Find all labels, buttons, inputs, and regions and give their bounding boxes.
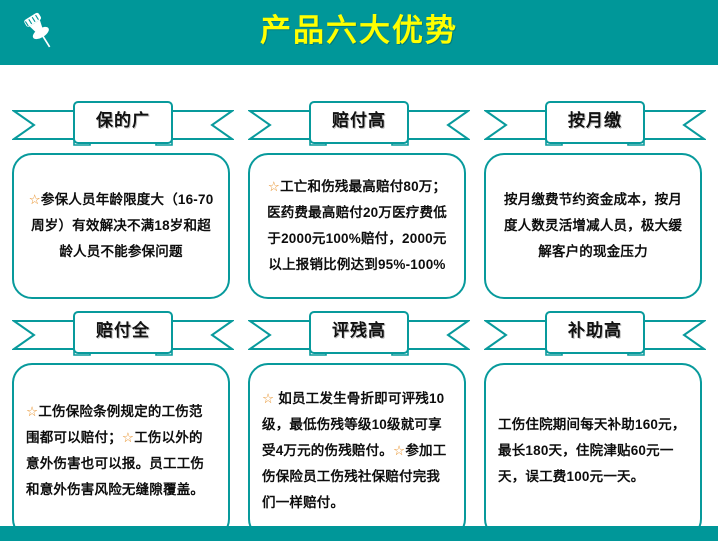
card-text-content: 参保人员年龄限度大（16-70周岁）有效解决不满18岁和超龄人员不能参保问题 xyxy=(31,192,213,259)
footer-bar xyxy=(0,526,718,541)
ribbon-banner-2: 赔付高 xyxy=(248,99,470,149)
ribbon-banner-4: 赔付全 xyxy=(12,309,234,359)
card-text-content: 工亡和伤残最高赔付80万；医药费最高赔付20万医疗费低于2000元100%赔付，… xyxy=(267,179,447,272)
card-body-2: ☆工亡和伤残最高赔付80万；医药费最高赔付20万医疗费低于2000元100%赔付… xyxy=(248,153,466,299)
card-banner-label: 赔付全 xyxy=(12,309,234,353)
advantage-card-3[interactable]: 按月缴 按月缴费节约资金成本，按月度人数灵活增减人员，极大缓解客户的现金压力 xyxy=(484,99,706,299)
star-icon: ☆ xyxy=(29,192,41,207)
card-text-content: 工伤住院期间每天补助160元，最长180天，住院津贴60元一天，误工费100元一… xyxy=(498,417,686,484)
advantage-card-6[interactable]: 补助高 工伤住院期间每天补助160元，最长180天，住院津贴60元一天，误工费1… xyxy=(484,309,706,539)
star-icon: ☆ xyxy=(268,179,280,194)
star-icon: ☆ xyxy=(26,404,38,419)
ribbon-banner-3: 按月缴 xyxy=(484,99,706,149)
card-text-1: ☆参保人员年龄限度大（16-70周岁）有效解决不满18岁和超龄人员不能参保问题 xyxy=(26,187,216,265)
card-body-1: ☆参保人员年龄限度大（16-70周岁）有效解决不满18岁和超龄人员不能参保问题 xyxy=(12,153,230,299)
card-text-4: ☆工伤保险条例规定的工伤范围都可以赔付；☆工伤以外的意外伤害也可以报。员工工伤和… xyxy=(26,399,216,503)
card-body-5: ☆ 如员工发生骨折即可评残10级，最低伤残等级10级就可享受4万元的伤残赔付。☆… xyxy=(248,363,466,539)
star-icon-secondary: ☆ xyxy=(393,443,405,458)
card-banner-label: 评残高 xyxy=(248,309,470,353)
page-title: 产品六大优势 xyxy=(0,0,718,65)
card-text-6: 工伤住院期间每天补助160元，最长180天，住院津贴60元一天，误工费100元一… xyxy=(498,412,688,490)
card-body-4: ☆工伤保险条例规定的工伤范围都可以赔付；☆工伤以外的意外伤害也可以报。员工工伤和… xyxy=(12,363,230,539)
card-text-2: ☆工亡和伤残最高赔付80万；医药费最高赔付20万医疗费低于2000元100%赔付… xyxy=(262,174,452,278)
ribbon-banner-6: 补助高 xyxy=(484,309,706,359)
star-icon: ☆ xyxy=(262,391,274,406)
card-text-5: ☆ 如员工发生骨折即可评残10级，最低伤残等级10级就可享受4万元的伤残赔付。☆… xyxy=(262,386,452,516)
star-icon-secondary: ☆ xyxy=(122,430,134,445)
advantage-card-2[interactable]: 赔付高 ☆工亡和伤残最高赔付80万；医药费最高赔付20万医疗费低于2000元10… xyxy=(248,99,470,299)
ribbon-banner-5: 评残高 xyxy=(248,309,470,359)
card-banner-label: 按月缴 xyxy=(484,99,706,143)
card-text-content: 按月缴费节约资金成本，按月度人数灵活增减人员，极大缓解客户的现金压力 xyxy=(504,192,682,259)
card-banner-label: 保的广 xyxy=(12,99,234,143)
advantage-card-4[interactable]: 赔付全 ☆工伤保险条例规定的工伤范围都可以赔付；☆工伤以外的意外伤害也可以报。员… xyxy=(12,309,234,539)
advantages-grid: 保的广 ☆参保人员年龄限度大（16-70周岁）有效解决不满18岁和超龄人员不能参… xyxy=(0,65,718,526)
card-banner-label: 赔付高 xyxy=(248,99,470,143)
card-text-3: 按月缴费节约资金成本，按月度人数灵活增减人员，极大缓解客户的现金压力 xyxy=(498,187,688,265)
advantage-card-5[interactable]: 评残高 ☆ 如员工发生骨折即可评残10级，最低伤残等级10级就可享受4万元的伤残… xyxy=(248,309,470,539)
card-body-6: 工伤住院期间每天补助160元，最长180天，住院津贴60元一天，误工费100元一… xyxy=(484,363,702,539)
page-header: 产品六大优势 xyxy=(0,0,718,65)
advantage-card-1[interactable]: 保的广 ☆参保人员年龄限度大（16-70周岁）有效解决不满18岁和超龄人员不能参… xyxy=(12,99,234,299)
card-banner-label: 补助高 xyxy=(484,309,706,353)
ribbon-banner-1: 保的广 xyxy=(12,99,234,149)
card-body-3: 按月缴费节约资金成本，按月度人数灵活增减人员，极大缓解客户的现金压力 xyxy=(484,153,702,299)
